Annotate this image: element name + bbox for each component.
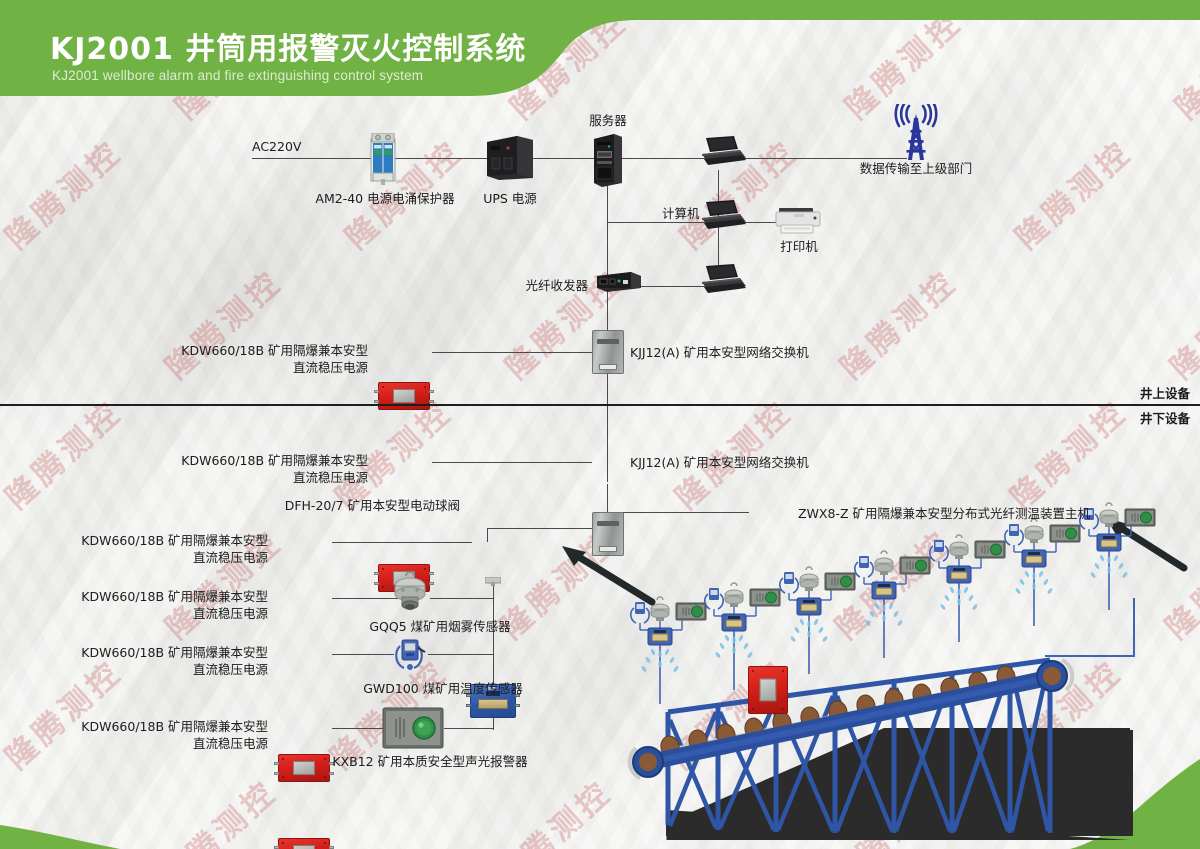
wire-ac-bus <box>252 158 612 159</box>
label-power-supply-ug2-line2: 直流稳压电源 <box>40 605 268 622</box>
wire-psu-to-switch-underground <box>432 462 592 463</box>
wire-valve-drop <box>487 528 488 542</box>
label-switch-surface: KJJ12(A) 矿用本安型网络交换机 <box>630 344 809 361</box>
fiber-transceiver-icon <box>595 268 643 294</box>
valve-actuator-icon <box>485 573 501 582</box>
label-power-supply-ug3-line2: 直流稳压电源 <box>40 661 268 678</box>
label-power-supply-ug2-line1: KDW660/18B 矿用隔爆兼本安型 <box>40 588 268 605</box>
printer-icon <box>775 206 823 236</box>
wire-smoke-to-bus <box>430 598 494 599</box>
wire-psu3-to-temp <box>332 654 394 655</box>
label-uplink: 数据传输至上级部门 <box>842 160 990 177</box>
label-power-supply-ug3-line1: KDW660/18B 矿用隔爆兼本安型 <box>40 644 268 661</box>
surface-underground-divider <box>0 404 1200 406</box>
label-computer: 计算机 <box>662 205 700 222</box>
antenna-tower-icon <box>888 104 944 164</box>
wire-transceiver-down <box>607 298 608 334</box>
wire-switch-to-valve <box>487 528 609 529</box>
label-alarm: KXB12 矿用本质安全型声光报警器 <box>300 753 560 770</box>
page-header: KJ2001 井筒用报警灭火控制系统 KJ2001 wellbore alarm… <box>0 0 1200 112</box>
wire-psu-to-switch-surface <box>432 352 592 353</box>
wire-switch-to-fiberhost <box>607 512 749 513</box>
label-surge-protector: AM2-40 电源电涌保护器 <box>300 190 470 207</box>
desktop-computer-icon <box>700 200 748 236</box>
label-power-supply-surface-line1: KDW660/18B 矿用隔爆兼本安型 <box>140 342 368 359</box>
page-title: KJ2001 井筒用报警灭火控制系统 <box>50 24 526 68</box>
label-printer: 打印机 <box>762 238 836 255</box>
wire-psu4-to-alarm <box>332 728 384 729</box>
server-tower-icon <box>592 133 624 188</box>
wire-switch-crossing <box>607 372 608 482</box>
ups-icon <box>483 134 535 182</box>
label-underground: 井下设备 <box>1140 410 1190 427</box>
diagram-page: 隆腾测控 隆腾测控 隆腾测控 隆腾测控 隆腾测控 隆腾测控 隆腾测控 隆腾测控 … <box>0 0 1200 849</box>
wire-temp-to-bus <box>428 654 494 655</box>
label-fiber-host: ZWX8-Z 矿用隔爆兼本安型分布式光纤测温装置主机 <box>798 505 1090 522</box>
temperature-sensor-icon <box>392 636 428 676</box>
network-switch-icon <box>592 330 624 374</box>
wire-alarm-to-bus <box>444 728 494 729</box>
audible-visual-alarm-icon <box>382 706 444 750</box>
label-fiber-transceiver: 光纤收发器 <box>478 277 588 294</box>
desktop-computer-icon <box>700 136 748 172</box>
label-valve: DFH-20/7 矿用本安型电动球阀 <box>260 497 460 514</box>
label-power-supply-ug1-line2: 直流稳压电源 <box>40 549 268 566</box>
power-supply-icon <box>278 838 330 849</box>
label-ups: UPS 电源 <box>460 190 560 207</box>
label-power-supply-ug0-line1: KDW660/18B 矿用隔爆兼本安型 <box>140 452 368 469</box>
label-switch-underground: KJJ12(A) 矿用本安型网络交换机 <box>630 454 809 471</box>
label-smoke-sensor: GQQ5 煤矿用烟雾传感器 <box>340 618 540 635</box>
surge-protector-icon <box>370 133 396 185</box>
smoke-sensor-icon <box>390 572 430 614</box>
wire-psu1-to-valve <box>332 542 472 543</box>
label-power-supply-ug0-line2: 直流稳压电源 <box>140 469 368 486</box>
page-subtitle: KJ2001 wellbore alarm and fire extinguis… <box>52 68 423 83</box>
desktop-computer-icon <box>700 264 748 300</box>
label-ac220v: AC220V <box>252 138 301 155</box>
label-server: 服务器 <box>568 112 648 129</box>
label-temperature-sensor: GWD100 煤矿用温度传感器 <box>338 680 548 697</box>
label-above-ground: 井上设备 <box>1140 385 1190 402</box>
wire-psu2-to-smoke <box>332 598 398 599</box>
label-power-supply-ug1-line1: KDW660/18B 矿用隔爆兼本安型 <box>40 532 268 549</box>
label-power-supply-surface-line2: 直流稳压电源 <box>140 359 368 376</box>
label-power-supply-ug4-line1: KDW660/18B 矿用隔爆兼本安型 <box>40 718 268 735</box>
label-power-supply-ug4-line2: 直流稳压电源 <box>40 735 268 752</box>
